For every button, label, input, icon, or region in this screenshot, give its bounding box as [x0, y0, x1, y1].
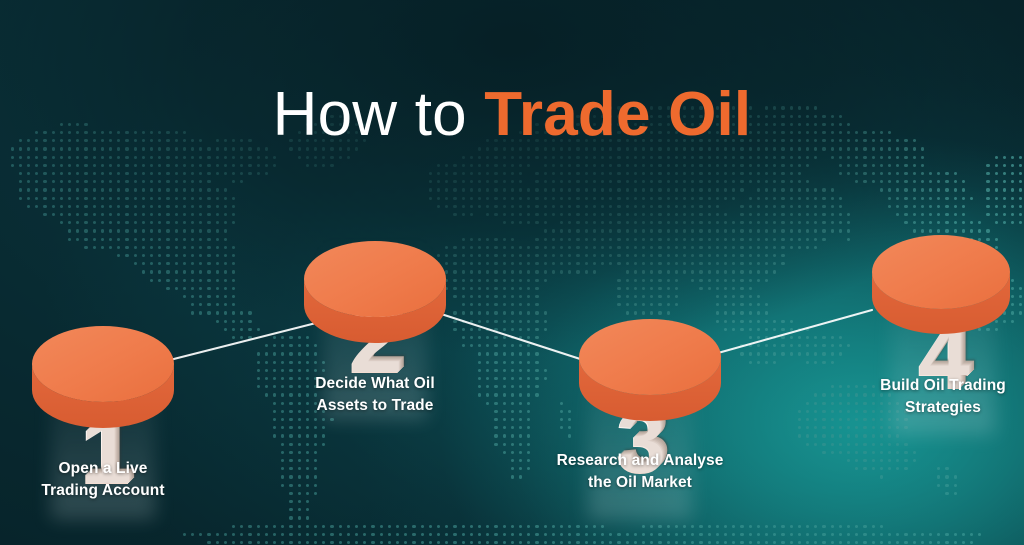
page-title: How to Trade Oil [0, 82, 1024, 147]
step-1-label-line2: Trading Account [41, 480, 164, 502]
step-1-label-line1: Open a Live [41, 458, 164, 480]
step-3[interactable]: 3 Research and Analyse the Oil Market [520, 295, 760, 545]
step-2-label-line2: Assets to Trade [315, 395, 435, 417]
step-3-label: Research and Analyse the Oil Market [557, 450, 724, 494]
step-1[interactable]: 1 Open a Live Trading Account [0, 300, 206, 545]
step-2-label-line1: Decide What Oil [315, 373, 435, 395]
step-4-label: Build Oil Trading Strategies [880, 375, 1006, 419]
infographic-canvas: How to Trade Oil 1 Open a Live Trading A… [0, 0, 1024, 545]
step-4-disc [842, 210, 1024, 360]
step-4-label-line2: Strategies [880, 397, 1006, 419]
step-1-disc [0, 300, 206, 450]
step-1-label: Open a Live Trading Account [41, 458, 164, 502]
step-3-label-line1: Research and Analyse [557, 450, 724, 472]
step-3-disc [530, 295, 770, 445]
step-4[interactable]: 4 Build Oil Trading Strategies [828, 210, 1024, 460]
step-4-label-line1: Build Oil Trading [880, 375, 1006, 397]
step-3-label-line2: the Oil Market [557, 472, 724, 494]
step-2[interactable]: 2 Decide What Oil Assets to Trade [270, 215, 480, 445]
title-accent: Trade Oil [484, 80, 751, 149]
title-prefix: How to [273, 80, 485, 149]
step-2-disc [270, 215, 480, 365]
step-2-label: Decide What Oil Assets to Trade [315, 373, 435, 417]
